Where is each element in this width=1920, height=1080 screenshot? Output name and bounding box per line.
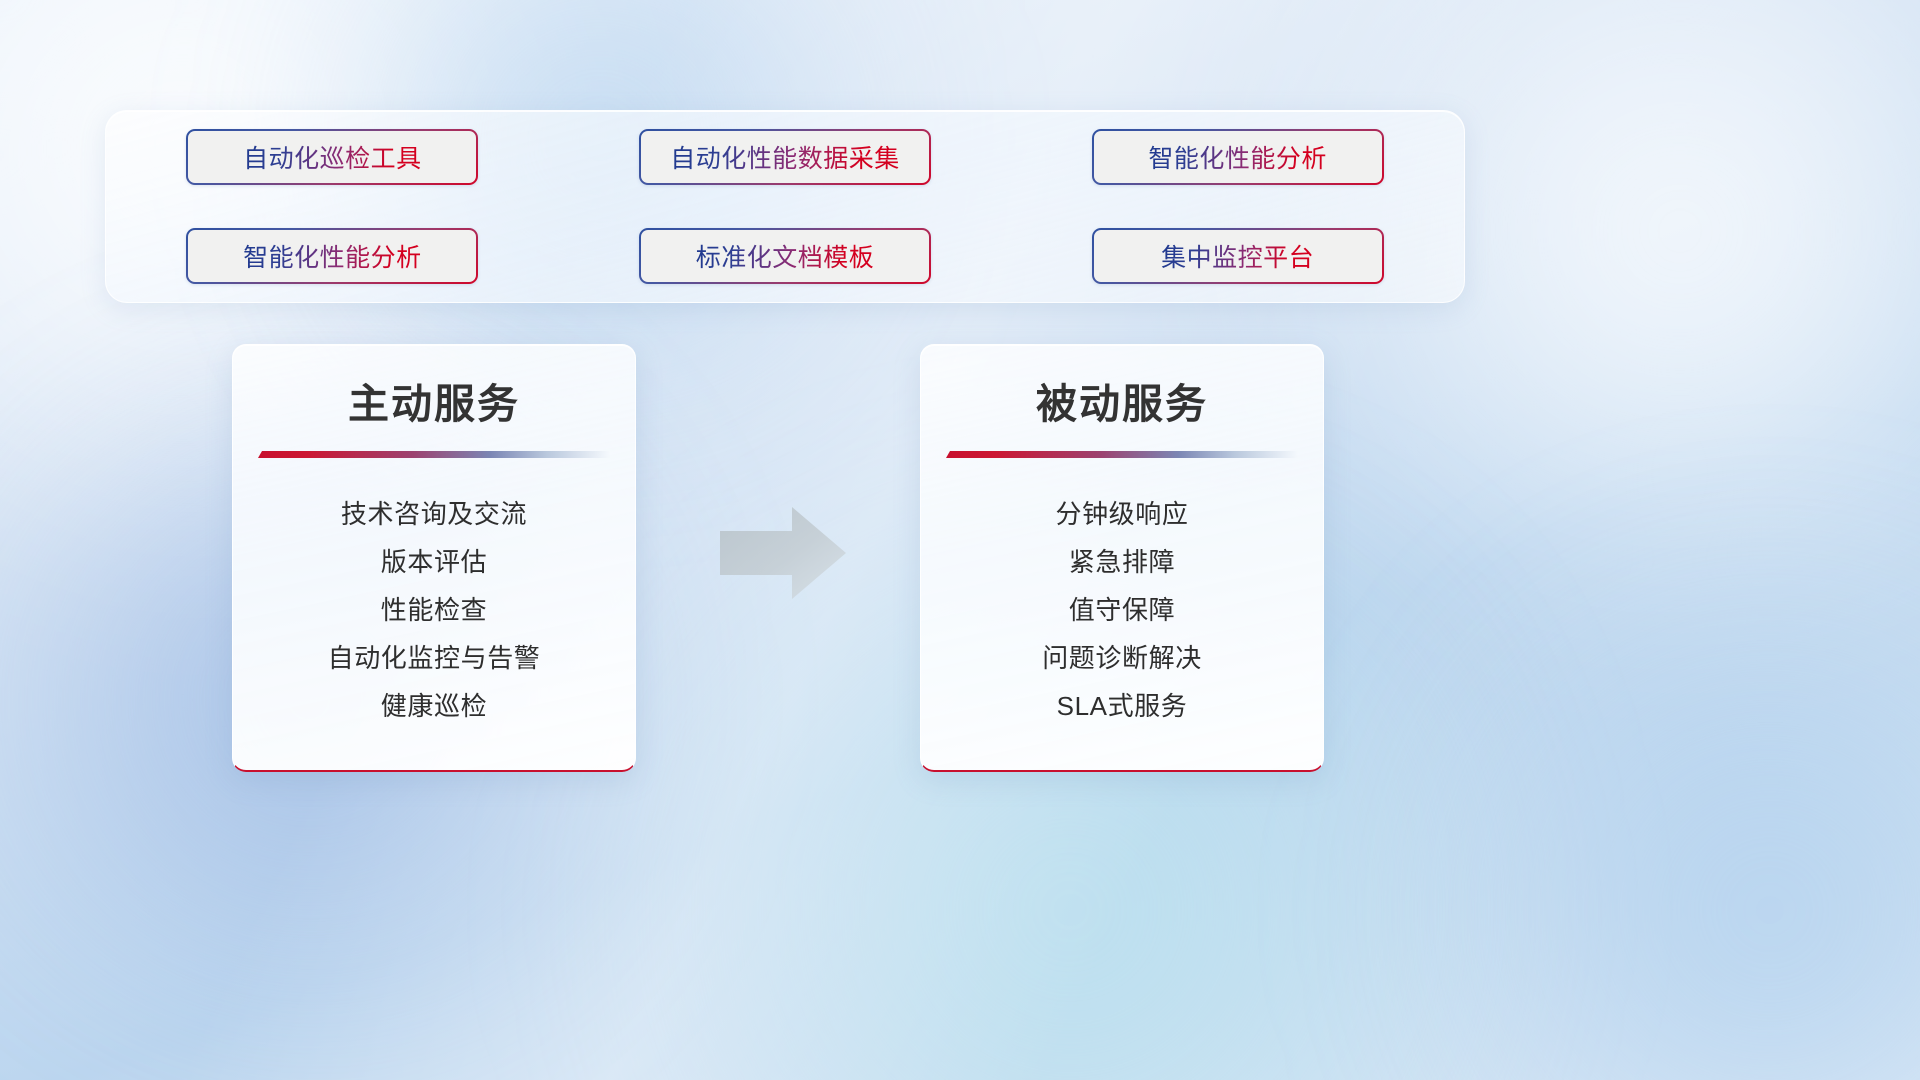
capability-tag[interactable]: 标准化文档模板 — [639, 228, 931, 284]
capability-tag-label: 自动化性能数据采集 — [670, 139, 900, 175]
service-item: 性能检查 — [233, 586, 635, 634]
capability-tag[interactable]: 智能化性能分析 — [1092, 129, 1384, 185]
arrow-right-icon — [718, 505, 848, 601]
capability-tag[interactable]: 自动化性能数据采集 — [639, 129, 931, 185]
capability-tag-inner: 标准化文档模板 — [641, 230, 929, 282]
capability-tag-panel: 自动化巡检工具 自动化性能数据采集 智能化性能分析 智能化性能分析 标准化文档模… — [105, 110, 1465, 303]
service-item: 值守保障 — [921, 586, 1323, 634]
title-divider — [258, 451, 610, 458]
service-item-list: 技术咨询及交流 版本评估 性能检查 自动化监控与告警 健康巡检 — [233, 490, 635, 730]
capability-tag-inner: 智能化性能分析 — [188, 230, 476, 282]
service-card-active: 主动服务 技术咨询及交流 版本评估 性能检查 自动化监控与告警 健康巡检 — [232, 344, 636, 772]
service-card-passive: 被动服务 分钟级响应 紧急排障 值守保障 问题诊断解决 SLA式服务 — [920, 344, 1324, 772]
capability-tag-label: 标准化文档模板 — [696, 238, 875, 274]
service-card-title: 主动服务 — [233, 370, 635, 430]
service-item: 自动化监控与告警 — [233, 634, 635, 682]
capability-tag-inner: 集中监控平台 — [1094, 230, 1382, 282]
capability-tag-label: 智能化性能分析 — [1148, 139, 1327, 175]
service-item: 版本评估 — [233, 538, 635, 586]
capability-tag-label: 自动化巡检工具 — [243, 139, 422, 175]
service-item: 紧急排障 — [921, 538, 1323, 586]
capability-tag-label: 智能化性能分析 — [243, 238, 422, 274]
service-card-title: 被动服务 — [921, 370, 1323, 430]
service-item: 技术咨询及交流 — [233, 490, 635, 538]
capability-tag-grid: 自动化巡检工具 自动化性能数据采集 智能化性能分析 智能化性能分析 标准化文档模… — [106, 111, 1464, 302]
capability-tag-label: 集中监控平台 — [1161, 238, 1314, 274]
capability-tag[interactable]: 集中监控平台 — [1092, 228, 1384, 284]
capability-tag-inner: 自动化性能数据采集 — [641, 131, 929, 183]
capability-tag-inner: 智能化性能分析 — [1094, 131, 1382, 183]
service-item: 分钟级响应 — [921, 490, 1323, 538]
capability-tag[interactable]: 自动化巡检工具 — [186, 129, 478, 185]
capability-tag[interactable]: 智能化性能分析 — [186, 228, 478, 284]
service-item: 健康巡检 — [233, 682, 635, 730]
service-item-list: 分钟级响应 紧急排障 值守保障 问题诊断解决 SLA式服务 — [921, 490, 1323, 730]
title-divider — [946, 451, 1298, 458]
service-item: SLA式服务 — [921, 682, 1323, 730]
service-item: 问题诊断解决 — [921, 634, 1323, 682]
capability-tag-inner: 自动化巡检工具 — [188, 131, 476, 183]
